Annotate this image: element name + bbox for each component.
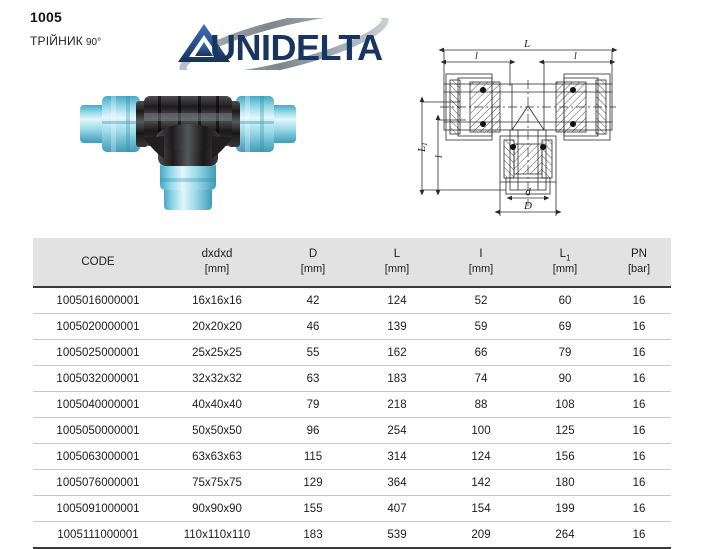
cell-dxdxd: 50x50x50 [163,418,271,444]
column-header-d-unit: [mm] [301,263,325,275]
cell-code: 1005111000001 [33,522,163,549]
column-header-i-label: I [479,248,482,260]
dim-label-branch-left: l [475,51,478,62]
cell-i: 124 [439,444,523,470]
dim-label-inner-diameter: d [525,186,531,198]
cell-d: 155 [271,496,355,522]
cell-dxdxd: 32x32x32 [163,366,271,392]
column-header-i-unit: [mm] [469,263,493,275]
cell-d: 79 [271,392,355,418]
cell-i: 74 [439,366,523,392]
cell-l1: 108 [523,392,607,418]
table-row[interactable]: 100503200000132x32x3263183749016 [33,366,671,392]
cell-dxdxd: 110x110x110 [163,522,271,549]
column-header-l1: L1 [mm] [523,238,607,287]
cell-l1: 125 [523,418,607,444]
cell-code: 1005020000001 [33,314,163,340]
table-row[interactable]: 100509100000190x90x9015540715419916 [33,496,671,522]
cell-pn: 16 [607,496,671,522]
technical-drawing: L l l d D L1 l [414,28,700,226]
cell-pn: 16 [607,392,671,418]
cell-pn: 16 [607,340,671,366]
table-row[interactable]: 100505000000150x50x509625410012516 [33,418,671,444]
column-header-l: L [mm] [355,238,439,287]
cell-l1: 199 [523,496,607,522]
cell-i: 154 [439,496,523,522]
cell-l: 364 [355,470,439,496]
column-header-l-unit: [mm] [385,263,409,275]
column-header-d: D [mm] [271,238,355,287]
product-photo [78,58,298,210]
cell-l: 539 [355,522,439,549]
cell-i: 100 [439,418,523,444]
column-header-l-label: L [394,248,400,260]
cell-pn: 16 [607,444,671,470]
cell-d: 55 [271,340,355,366]
table-row[interactable]: 100507600000175x75x7512936414218016 [33,470,671,496]
cell-i: 142 [439,470,523,496]
column-header-l1-unit: [mm] [553,263,577,275]
cell-dxdxd: 25x25x25 [163,340,271,366]
column-header-d-label: D [309,248,317,260]
cell-l: 162 [355,340,439,366]
table-row[interactable]: 100501600000116x16x1642124526016 [33,287,671,314]
cell-code: 1005050000001 [33,418,163,444]
column-header-pn: PN [bar] [607,238,671,287]
cell-l: 407 [355,496,439,522]
cell-dxdxd: 20x20x20 [163,314,271,340]
column-header-l1-subscript: 1 [566,253,570,262]
table-row[interactable]: 100504000000140x40x40792188810816 [33,392,671,418]
cell-i: 88 [439,392,523,418]
cell-dxdxd: 90x90x90 [163,496,271,522]
dim-label-total-length: L [523,38,530,50]
cell-dxdxd: 75x75x75 [163,470,271,496]
column-header-i: I [mm] [439,238,523,287]
dim-label-branch-right: l [574,51,577,62]
cell-l1: 69 [523,314,607,340]
cell-d: 96 [271,418,355,444]
product-name: ТРІЙНИК [30,34,83,48]
cell-l: 254 [355,418,439,444]
cell-i: 52 [439,287,523,314]
column-header-dxdxd: dxdxd [mm] [163,238,271,287]
cell-code: 1005025000001 [33,340,163,366]
column-header-pn-label: PN [631,248,647,260]
cell-i: 66 [439,340,523,366]
table-row[interactable]: 100502000000120x20x2046139596916 [33,314,671,340]
cell-code: 1005040000001 [33,392,163,418]
cell-code: 1005063000001 [33,444,163,470]
cell-pn: 16 [607,470,671,496]
cell-d: 129 [271,470,355,496]
product-angle: 90° [86,37,101,48]
column-header-pn-unit: [bar] [628,263,650,275]
cell-i: 59 [439,314,523,340]
cell-l1: 156 [523,444,607,470]
cell-l: 314 [355,444,439,470]
cell-l: 218 [355,392,439,418]
cell-pn: 16 [607,314,671,340]
column-header-dxdxd-label: dxdxd [202,248,233,260]
cell-code: 1005032000001 [33,366,163,392]
dim-label-height-inner: l [434,155,445,158]
cell-d: 42 [271,287,355,314]
cell-l1: 264 [523,522,607,549]
dim-label-height: L1 [416,142,429,153]
cell-l: 139 [355,314,439,340]
table-row[interactable]: 100502500000125x25x2555162667916 [33,340,671,366]
cell-l1: 79 [523,340,607,366]
cell-pn: 16 [607,522,671,549]
cell-d: 63 [271,366,355,392]
cell-l: 124 [355,287,439,314]
dim-label-outer-diameter: D [523,200,532,212]
cell-l1: 180 [523,470,607,496]
column-header-dxdxd-unit: [mm] [205,263,229,275]
cell-pn: 16 [607,418,671,444]
cell-code: 1005016000001 [33,287,163,314]
cell-d: 115 [271,444,355,470]
cell-l: 183 [355,366,439,392]
cell-dxdxd: 16x16x16 [163,287,271,314]
cell-dxdxd: 40x40x40 [163,392,271,418]
spec-table: CODE dxdxd [mm] D [mm] L [33,238,671,549]
cell-l1: 60 [523,287,607,314]
table-row[interactable]: 100506300000163x63x6311531412415616 [33,444,671,470]
column-header-code-label: CODE [81,256,114,268]
cell-d: 183 [271,522,355,549]
cell-l1: 90 [523,366,607,392]
table-header-row: CODE dxdxd [mm] D [mm] L [33,238,671,287]
cell-i: 209 [439,522,523,549]
cell-code: 1005076000001 [33,470,163,496]
cell-pn: 16 [607,287,671,314]
cell-d: 46 [271,314,355,340]
cell-pn: 16 [607,366,671,392]
table-row[interactable]: 1005111000001110x110x11018353920926416 [33,522,671,549]
spec-table-body: 100501600000116x16x164212452601610050200… [33,287,671,548]
cell-code: 1005091000001 [33,496,163,522]
column-header-code: CODE [33,238,163,287]
cell-dxdxd: 63x63x63 [163,444,271,470]
spec-table-container: CODE dxdxd [mm] D [mm] L [33,238,671,549]
